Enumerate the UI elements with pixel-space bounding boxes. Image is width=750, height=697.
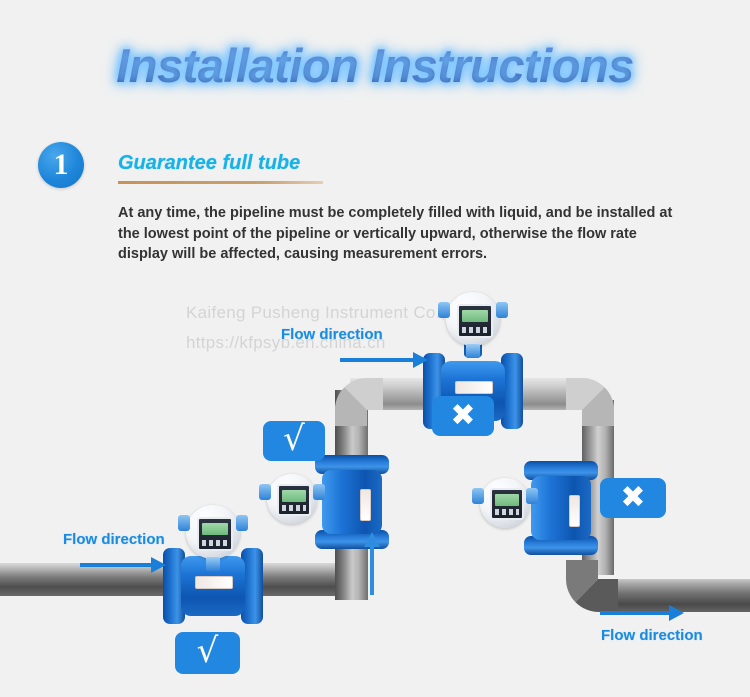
head-bracket-left-icon — [438, 302, 450, 318]
head-bracket-left-icon — [178, 515, 190, 531]
arrow-shaft — [340, 358, 414, 362]
check-icon: √ — [197, 634, 219, 668]
arrow-head-icon — [151, 557, 166, 573]
cross-icon: ✖ — [620, 483, 645, 513]
head-bracket-right-icon — [496, 302, 508, 318]
head-bracket-right-icon — [313, 484, 325, 500]
pipe-corner-top-left — [335, 378, 383, 426]
cross-icon: ✖ — [450, 401, 475, 431]
section-heading: Guarantee full tube — [118, 152, 300, 175]
flow-direction-top-label: Flow direction — [281, 326, 383, 343]
flowmeter-right-vertical — [524, 461, 598, 555]
arrow-shaft — [370, 543, 374, 595]
head-mount-foot — [206, 557, 220, 571]
flowmeter-body — [531, 476, 591, 540]
lcd-display-icon — [277, 484, 311, 516]
head-bracket-left-icon — [259, 484, 271, 500]
page-title: Installation Instructions — [0, 38, 750, 93]
head-bracket-left-icon — [472, 488, 484, 504]
section-underline — [118, 181, 323, 184]
diagram-canvas: Installation Instructions Installation I… — [0, 0, 750, 697]
lcd-display-icon — [490, 488, 524, 520]
flowmeter-display-head-top — [446, 292, 500, 346]
badge-vertical-riser-meter: √ — [263, 421, 325, 461]
arrow-shaft — [80, 563, 152, 567]
head-mount-foot — [466, 344, 480, 358]
pipe-corner-top-right — [566, 378, 614, 426]
flowmeter-display-head-right — [480, 478, 530, 528]
flow-direction-top-arrow — [340, 352, 428, 368]
arrow-head-icon — [669, 605, 684, 621]
badge-bottom-left-meter: √ — [175, 632, 240, 674]
arrow-head-icon — [413, 352, 428, 368]
section-body-text: At any time, the pipeline must be comple… — [118, 203, 678, 265]
flowmeter-body — [322, 470, 382, 534]
flow-direction-bottom-right-arrow — [600, 605, 686, 621]
arrow-shaft — [600, 611, 670, 615]
step-number-badge: 1 — [38, 142, 84, 188]
badge-top-meter: ✖ — [432, 396, 494, 436]
flowmeter-display-head-bottom-left — [186, 505, 240, 559]
lcd-display-icon — [457, 304, 493, 338]
lcd-display-icon — [197, 517, 233, 551]
arrow-head-icon — [364, 532, 380, 547]
head-bracket-right-icon — [236, 515, 248, 531]
flowmeter-display-head-riser — [267, 474, 317, 524]
flow-direction-left-label: Flow direction — [63, 531, 165, 548]
flow-direction-left-arrow — [80, 557, 170, 573]
step-number-label: 1 — [38, 142, 84, 188]
check-icon: √ — [283, 422, 305, 456]
flow-direction-bottom-right-label: Flow direction — [601, 627, 703, 644]
flow-direction-riser-arrow — [363, 532, 381, 595]
head-bracket-right-icon — [526, 488, 538, 504]
badge-right-downpipe-meter: ✖ — [600, 478, 666, 518]
